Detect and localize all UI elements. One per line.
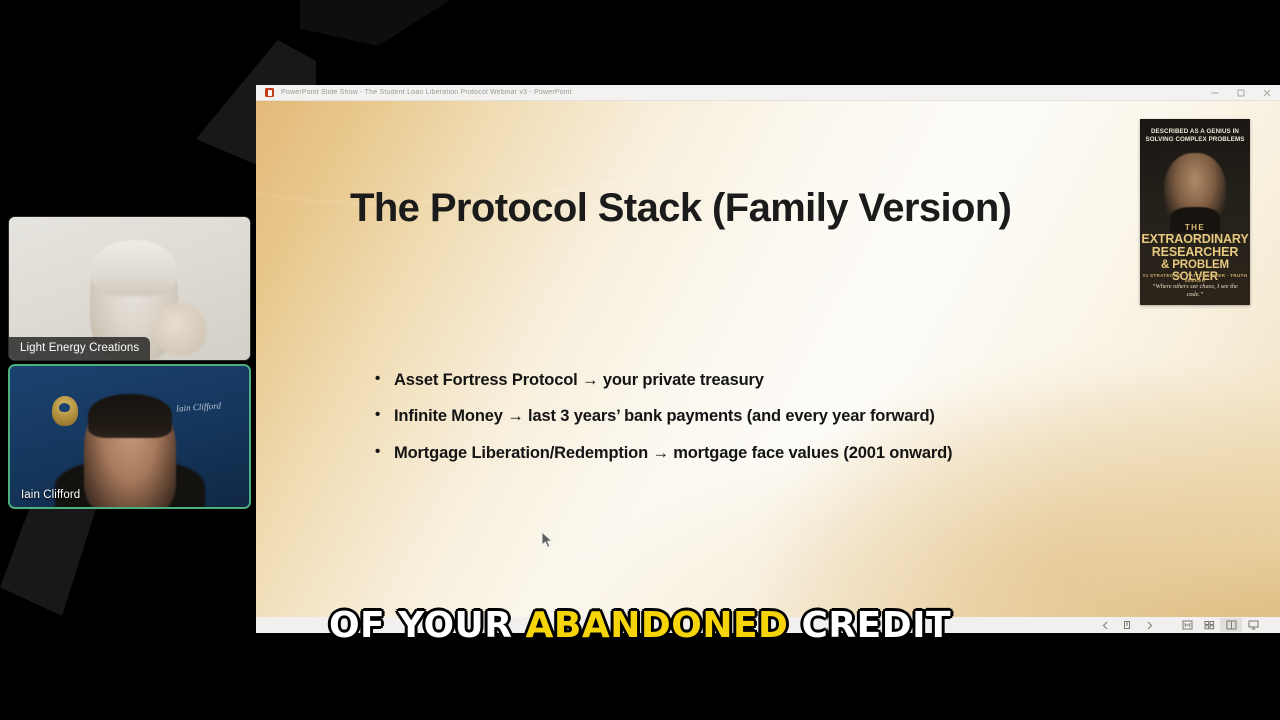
participant-tile-iain-clifford[interactable]: Iain Clifford Iain Clifford (8, 364, 251, 509)
participant-hair (92, 240, 176, 296)
book-main-title: EXTRAORDINARY RESEARCHER (1140, 233, 1250, 260)
window-controls (1202, 85, 1280, 100)
book-headline: DESCRIBED AS A GENIUS IN SOLVING COMPLEX… (1142, 128, 1248, 144)
slide-title: The Protocol Stack (Family Version) (350, 186, 1050, 232)
backdrop-shape-lower-left (0, 496, 100, 616)
slide-bullet-list: Asset Fortress Protocol → your private t… (374, 369, 1054, 478)
caption-after: CREDIT (788, 605, 951, 646)
slide-canvas[interactable]: The Protocol Stack (Family Version) Asse… (256, 101, 1280, 617)
window-titlebar[interactable]: PowerPoint Slide Show - The Student Loan… (256, 85, 1280, 101)
book-credits: #1 STRATEGIST · PATTERN SEER · TRUTH SEE… (1140, 273, 1250, 283)
powerpoint-icon (265, 88, 274, 97)
screen: PowerPoint Slide Show - The Student Loan… (0, 0, 1280, 720)
participant-tile-light-energy-creations[interactable]: Light Energy Creations (8, 216, 251, 361)
caption-before: OF YOUR (329, 605, 526, 646)
participant-hair (88, 394, 172, 438)
close-button[interactable] (1254, 85, 1280, 101)
video-caption: OF YOUR ABANDONED CREDIT (0, 608, 1280, 644)
book-the-label: THE (1140, 223, 1250, 232)
participant-name-label: Iain Clifford (10, 484, 91, 507)
powerpoint-window: PowerPoint Slide Show - The Student Loan… (256, 85, 1280, 633)
window-title: PowerPoint Slide Show - The Student Loan… (281, 89, 572, 96)
participant-name-label: Light Energy Creations (9, 337, 150, 360)
brand-logo-icon (52, 396, 78, 426)
caption-highlight: ABANDONED (526, 605, 789, 646)
book-author-portrait (1164, 153, 1226, 229)
minimize-button[interactable] (1202, 85, 1228, 101)
participant-hand (154, 303, 206, 355)
bullet-item: Mortgage Liberation/Redemption → mortgag… (374, 442, 1054, 465)
restore-button[interactable] (1228, 85, 1254, 101)
mouse-cursor (541, 531, 555, 550)
bullet-item: Infinite Money → last 3 years’ bank paym… (374, 405, 1054, 428)
book-cover-image: DESCRIBED AS A GENIUS IN SOLVING COMPLEX… (1140, 119, 1250, 305)
bullet-item: Asset Fortress Protocol → your private t… (374, 369, 1054, 392)
book-quote: “Where others see chaos, I see the code.… (1144, 283, 1246, 300)
backdrop-shape-top (300, 0, 450, 46)
